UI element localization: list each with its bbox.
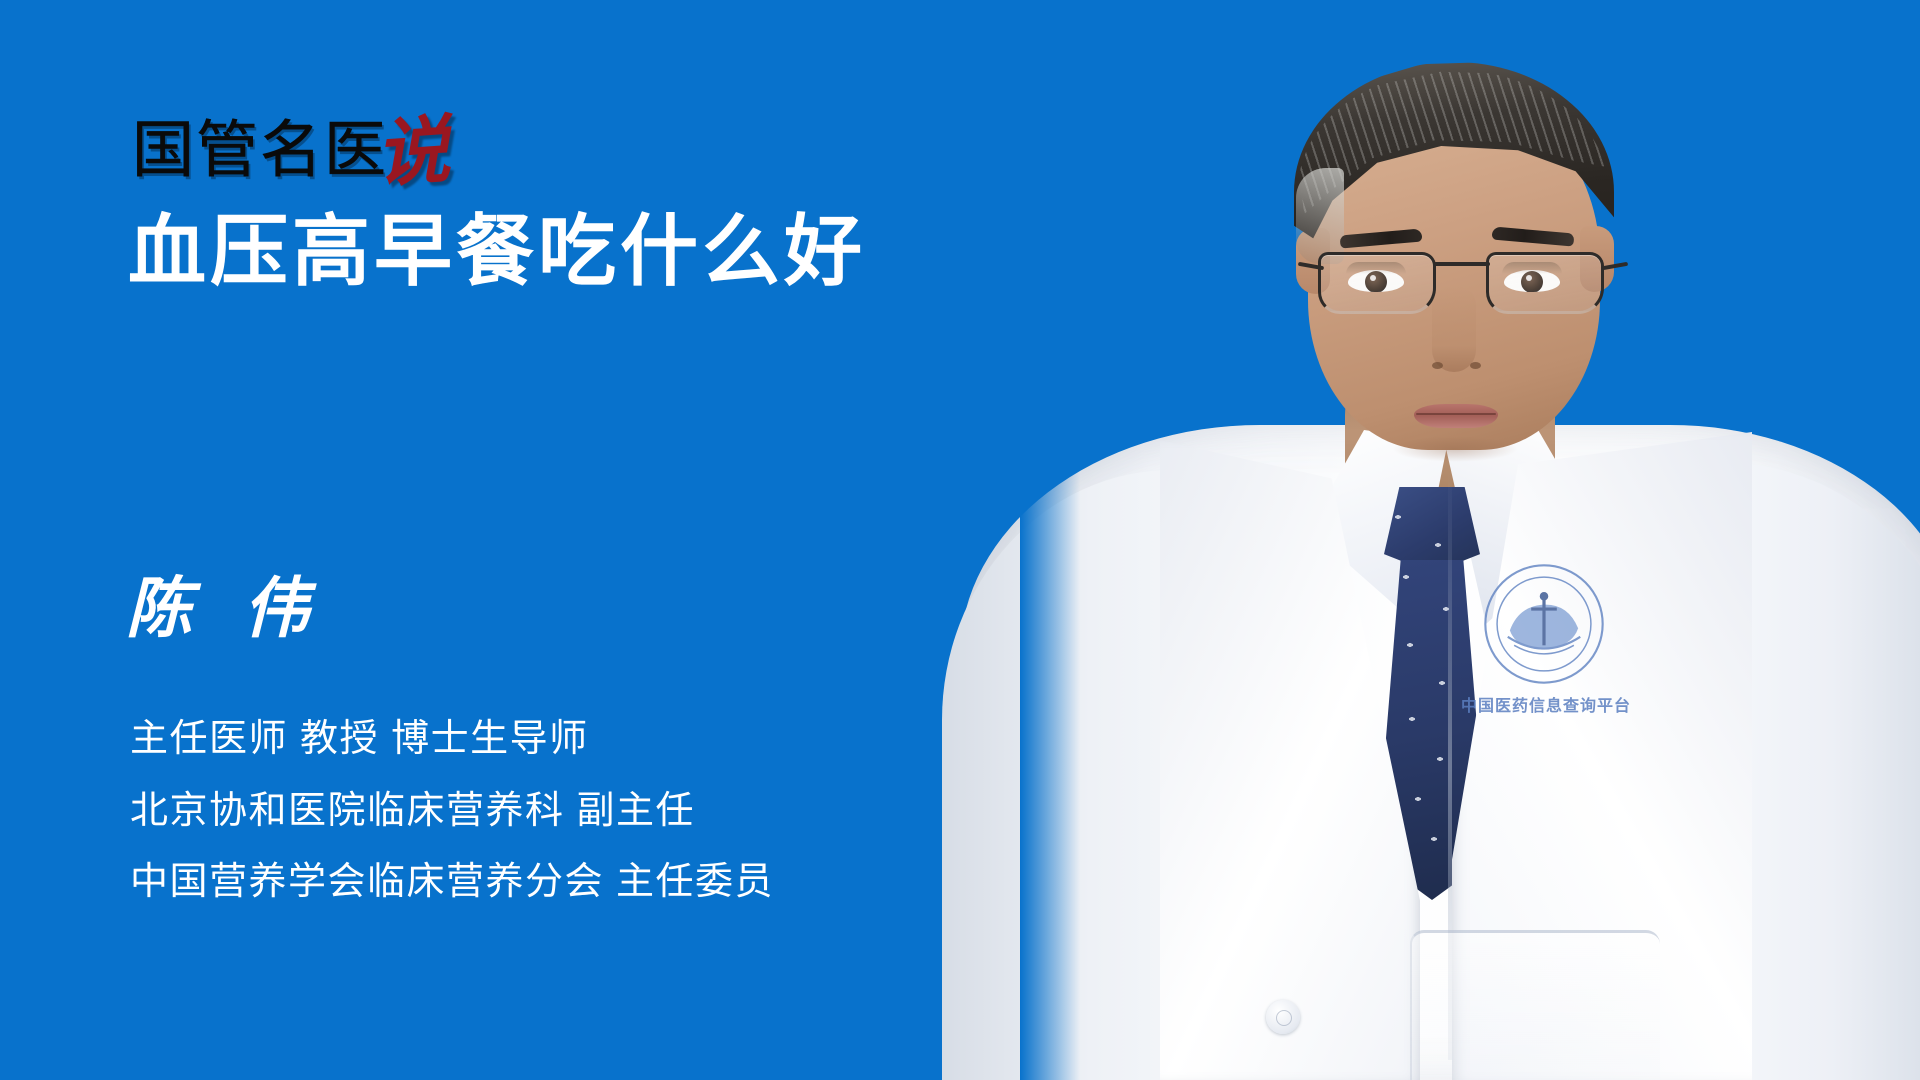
brand-logo-main-text: 国管名医	[132, 119, 388, 181]
text-column: 国管名医 说 血压高早餐吃什么好 陈 伟 主任医师 教授 博士生导师 北京协和医…	[0, 0, 1100, 1080]
poster-canvas: 中国医药信息查询平台 国管名医 说 血压高早餐吃什么好 陈 伟 主任医师 教授 …	[0, 0, 1920, 1080]
credential-line: 主任医师 教授 博士生导师	[130, 718, 774, 762]
credential-line: 北京协和医院临床营养科 副主任	[130, 790, 774, 834]
nostril-right	[1470, 362, 1481, 369]
eyeglass-lens-left	[1318, 252, 1436, 314]
doctor-portrait: 中国医药信息查询平台	[1040, 0, 1920, 1080]
mouth	[1414, 404, 1498, 428]
page-title: 血压高早餐吃什么好	[128, 208, 866, 295]
brand-logo-accent-text: 说	[373, 116, 452, 189]
nostril-left	[1432, 362, 1443, 369]
eyeglass-lens-right	[1486, 252, 1604, 314]
lab-coat-pocket	[1410, 930, 1660, 1080]
brand-logo: 国管名医 说	[132, 95, 452, 181]
lab-coat-button	[1266, 1000, 1300, 1034]
chin-shadow	[1392, 436, 1518, 462]
credential-line: 中国营养学会临床营养分会 主任委员	[130, 861, 774, 905]
hair-temple-grey	[1296, 168, 1344, 264]
platform-emblem-icon	[1480, 560, 1608, 688]
doctor-credentials: 主任医师 教授 博士生导师 北京协和医院临床营养科 副主任 中国营养学会临床营养…	[130, 718, 774, 905]
mouth-line	[1416, 413, 1496, 415]
eyeglass-temple-right	[1602, 262, 1628, 270]
doctor-name: 陈 伟	[126, 575, 323, 641]
eyeglass-bridge	[1434, 262, 1490, 266]
platform-emblem-caption: 中国医药信息查询平台	[1442, 692, 1650, 716]
nose	[1432, 286, 1476, 372]
